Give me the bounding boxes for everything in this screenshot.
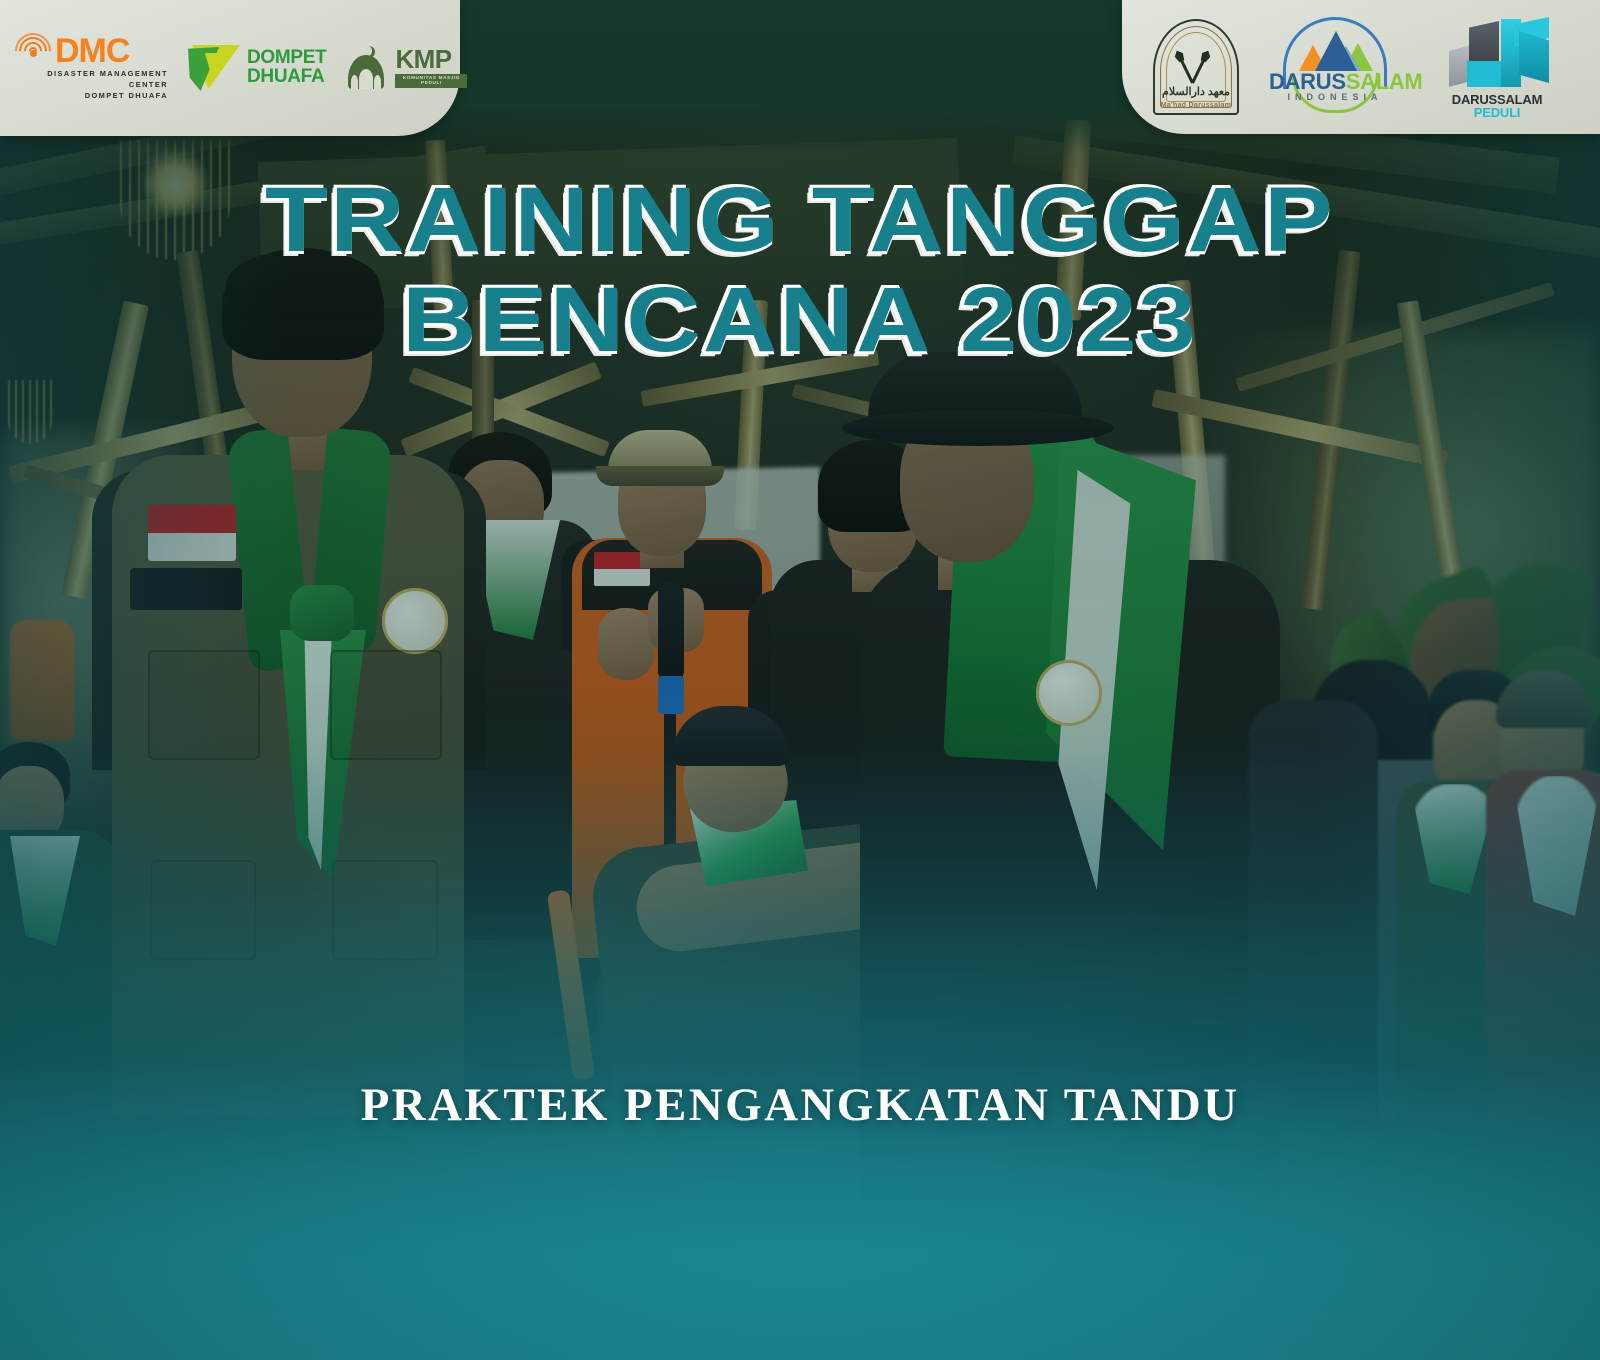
- mountain-circle-icon: [1299, 31, 1373, 71]
- logo-dompet-dhuafa: DOMPET DHUAFA: [186, 45, 326, 91]
- dompet-dhuafa-line2: DHUAFA: [247, 68, 326, 87]
- kmp-subtitle: KOMUNITAS MASJID PEDULI: [395, 74, 467, 88]
- green-yellow-triangle-icon: [186, 45, 240, 91]
- photo-caption: PRAKTEK PENGANGKATAN TANDU: [0, 1078, 1600, 1132]
- geometric-blocks-icon: [1449, 15, 1549, 87]
- darussalam-word-part1: DARUS: [1269, 69, 1346, 94]
- headline-line-1: TRAINING TANGGAP: [265, 169, 1335, 271]
- darussalam-word-part2: SALAM: [1346, 69, 1423, 94]
- dmc-subtitle-line2: DOMPET DHUAFA: [16, 91, 168, 102]
- mahad-arabic-text: معهد دارالسلام: [1159, 87, 1233, 98]
- kmp-wordmark: KMP: [395, 48, 467, 71]
- logo-dmc: DMC DISASTER MANAGEMENT CENTER DOMPET DH…: [16, 34, 168, 102]
- dmc-wordmark: DMC: [55, 36, 129, 67]
- mosque-dome-crescent-icon: [344, 47, 388, 89]
- darussalam-subtitle: INDONESIA: [1269, 93, 1401, 102]
- headline-line-2: BENCANA 2023: [0, 270, 1600, 370]
- logo-kmp: KMP KOMUNITAS MASJID PEDULI: [344, 47, 467, 89]
- peduli-word-part2: PEDULI: [1474, 105, 1520, 120]
- dmc-subtitle-line1: DISASTER MANAGEMENT CENTER: [16, 69, 168, 90]
- logo-mahad-darussalam: معهد دارالسلام Ma'had Darussalam: [1153, 19, 1239, 115]
- left-logo-panel: DMC DISASTER MANAGEMENT CENTER DOMPET DH…: [0, 0, 460, 136]
- logo-darussalam-peduli: DARUSSALAM PEDULI: [1431, 13, 1563, 121]
- logo-darussalam-indonesia: DARUSSALAM INDONESIA: [1269, 15, 1401, 119]
- mahad-latin-text: Ma'had Darussalam: [1159, 102, 1233, 109]
- fingerprint-arc-icon: [16, 34, 50, 68]
- page-title: TRAINING TANGGAP BENCANA 2023: [0, 170, 1600, 370]
- poster-canvas: DMC DISASTER MANAGEMENT CENTER DOMPET DH…: [0, 0, 1600, 1360]
- right-logo-panel: معهد دارالسلام Ma'had Darussalam DARUSSA…: [1122, 0, 1600, 134]
